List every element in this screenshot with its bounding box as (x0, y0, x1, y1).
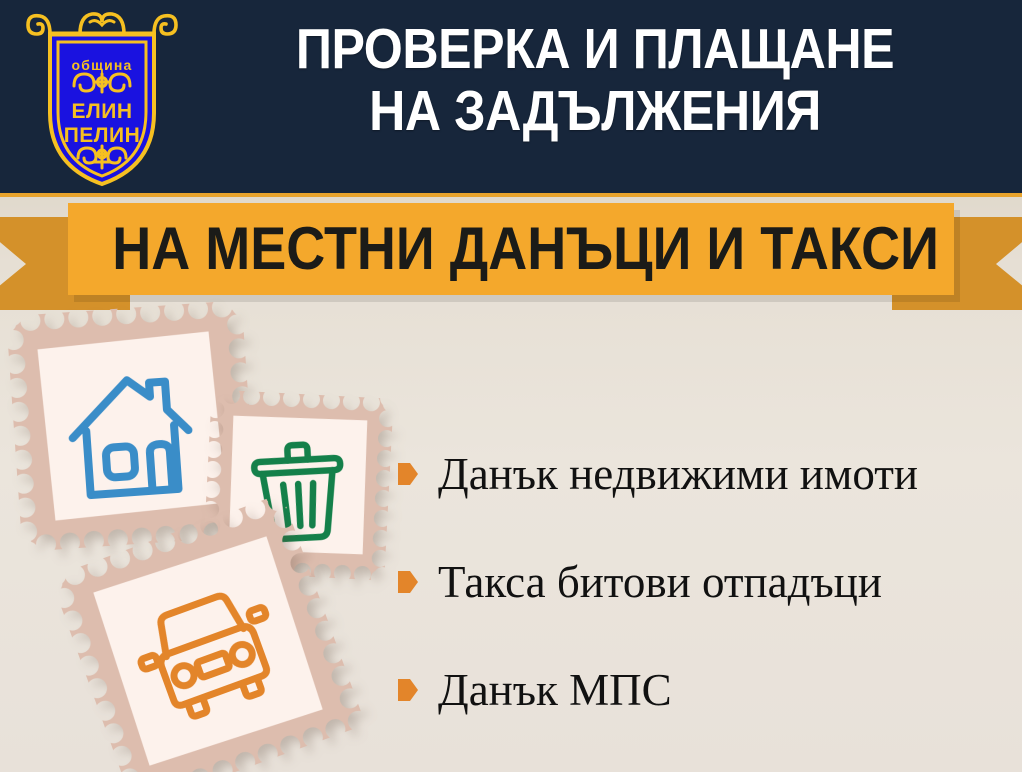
crest-label-line1: ЕЛИН (71, 100, 132, 123)
list-item-label: Данък МПС (438, 665, 672, 715)
ribbon-label: НА МЕСТНИ ДАНЪЦИ И ТАКСИ (112, 203, 909, 295)
ribbon-banner: НА МЕСТНИ ДАНЪЦИ И ТАКСИ (0, 198, 1022, 310)
crest-shield-icon: община ЕЛИН ПЕЛИН (22, 8, 182, 190)
poster-canvas: община ЕЛИН ПЕЛИН ПРОВЕРКА (0, 0, 1022, 772)
bullet-arrow-icon (398, 677, 418, 703)
list-item[interactable]: Данък недвижими имоти (398, 420, 1008, 528)
crest-label-top: община (71, 57, 132, 73)
crest-label-line2: ПЕЛИН (64, 124, 141, 147)
page-title: ПРОВЕРКА И ПЛАЩАНЕ НА ЗАДЪЛЖЕНИЯ (230, 18, 960, 142)
list-item-label: Такса битови отпадъци (438, 557, 882, 607)
tax-types-list: Данък недвижими имоти Такса битови отпад… (398, 420, 1008, 744)
list-item[interactable]: Такса битови отпадъци (398, 528, 1008, 636)
bullet-arrow-icon (398, 461, 418, 487)
municipality-crest: община ЕЛИН ПЕЛИН (22, 8, 182, 190)
ribbon-main-panel: НА МЕСТНИ ДАНЪЦИ И ТАКСИ (68, 203, 954, 295)
list-item-label: Данък недвижими имоти (438, 449, 918, 499)
bullet-arrow-icon (398, 569, 418, 595)
list-item[interactable]: Данък МПС (398, 636, 1008, 744)
